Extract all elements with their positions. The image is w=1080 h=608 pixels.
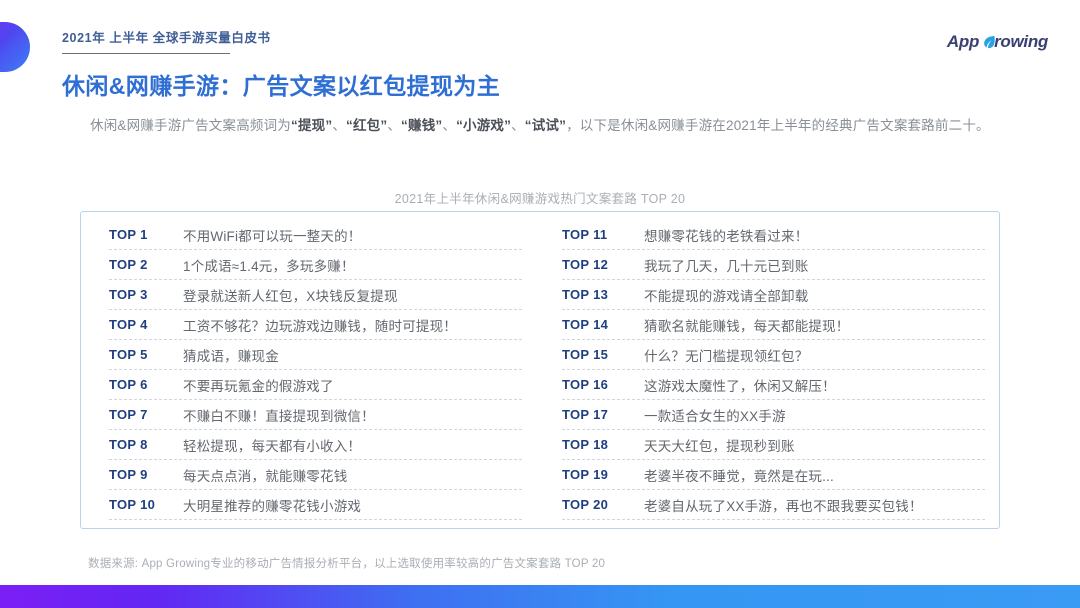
intro-keyword-3: “赚钱” xyxy=(401,118,442,133)
table-row[interactable]: TOP 6不要再玩氪金的假游戏了 xyxy=(109,370,522,400)
table-row[interactable]: TOP 12我玩了几天，几十元已到账 xyxy=(562,250,985,280)
table-row[interactable]: TOP 15什么？无门槛提现领红包？ xyxy=(562,340,985,370)
intro-keyword-4: “小游戏” xyxy=(456,118,511,133)
rank-label: TOP 16 xyxy=(562,377,644,392)
rank-label: TOP 17 xyxy=(562,407,644,422)
ranking-column-left: TOP 1不用WiFi都可以玩一整天的！TOP 21个成语≈1.4元，多玩多赚！… xyxy=(81,220,540,520)
rank-label: TOP 8 xyxy=(109,437,183,452)
table-row[interactable]: TOP 8轻松提现，每天都有小收入！ xyxy=(109,430,522,460)
rank-label: TOP 14 xyxy=(562,317,644,332)
intro-part-1: 休闲&网赚手游广告文案高频词为 xyxy=(90,118,291,133)
intro-sep-1: 、 xyxy=(332,118,346,133)
intro-paragraph: 休闲&网赚手游广告文案高频词为“提现”、“红包”、“赚钱”、“小游戏”、“试试”… xyxy=(90,112,1000,140)
rank-copy-text: 什么？无门槛提现领红包？ xyxy=(644,345,808,365)
rank-copy-text: 这游戏太魔性了，休闲又解压！ xyxy=(644,375,836,395)
rank-label: TOP 6 xyxy=(109,377,183,392)
decorative-corner-blob xyxy=(0,22,30,72)
rank-copy-text: 登录就送新人红包，X块钱反复提现 xyxy=(183,285,398,305)
rank-copy-text: 老婆半夜不睡觉，竟然是在玩... xyxy=(644,465,834,485)
intro-sep-3: 、 xyxy=(442,118,456,133)
leaf-icon xyxy=(983,35,996,50)
rank-label: TOP 20 xyxy=(562,497,644,512)
rank-copy-text: 不能提现的游戏请全部卸载 xyxy=(644,285,808,305)
rank-label: TOP 1 xyxy=(109,227,183,242)
table-row[interactable]: TOP 3登录就送新人红包，X块钱反复提现 xyxy=(109,280,522,310)
table-caption: 2021年上半年休闲&网赚游戏热门文案套路 TOP 20 xyxy=(0,188,1080,207)
rank-label: TOP 7 xyxy=(109,407,183,422)
rank-copy-text: 大明星推荐的赚零花钱小游戏 xyxy=(183,495,361,515)
table-row[interactable]: TOP 9每天点点消，就能赚零花钱 xyxy=(109,460,522,490)
intro-keyword-1: “提现” xyxy=(291,118,332,133)
rank-label: TOP 15 xyxy=(562,347,644,362)
table-row[interactable]: TOP 20老婆自从玩了XX手游，再也不跟我要买包钱！ xyxy=(562,490,985,520)
table-row[interactable]: TOP 10大明星推荐的赚零花钱小游戏 xyxy=(109,490,522,520)
logo-text-app: App xyxy=(947,32,979,52)
rank-copy-text: 我玩了几天，几十元已到账 xyxy=(644,255,808,275)
rank-copy-text: 不赚白不赚！直接提现到微信！ xyxy=(183,405,375,425)
table-row[interactable]: TOP 4工资不够花？边玩游戏边赚钱，随时可提现！ xyxy=(109,310,522,340)
rank-label: TOP 9 xyxy=(109,467,183,482)
rank-copy-text: 想赚零花钱的老铁看过来！ xyxy=(644,225,808,245)
rank-label: TOP 11 xyxy=(562,227,644,242)
table-row[interactable]: TOP 19老婆半夜不睡觉，竟然是在玩... xyxy=(562,460,985,490)
intro-sep-4: 、 xyxy=(511,118,525,133)
rank-label: TOP 2 xyxy=(109,257,183,272)
rank-label: TOP 12 xyxy=(562,257,644,272)
rank-copy-text: 轻松提现，每天都有小收入！ xyxy=(183,435,361,455)
rank-label: TOP 5 xyxy=(109,347,183,362)
slide-header: 2021年 上半年 全球手游买量白皮书 休闲&网赚手游：广告文案以红包提现为主 xyxy=(62,27,622,101)
logo-text-growing: rowing xyxy=(994,32,1048,52)
rank-label: TOP 19 xyxy=(562,467,644,482)
data-source-footnote: 数据来源: App Growing专业的移动广告情报分析平台，以上选取使用率较高… xyxy=(88,555,605,571)
rank-copy-text: 不要再玩氪金的假游戏了 xyxy=(183,375,334,395)
table-row[interactable]: TOP 7不赚白不赚！直接提现到微信！ xyxy=(109,400,522,430)
bottom-gradient-bar xyxy=(0,585,1080,608)
table-row[interactable]: TOP 16这游戏太魔性了，休闲又解压！ xyxy=(562,370,985,400)
rank-label: TOP 4 xyxy=(109,317,183,332)
rank-copy-text: 一款适合女生的XX手游 xyxy=(644,405,786,425)
table-row[interactable]: TOP 17一款适合女生的XX手游 xyxy=(562,400,985,430)
ranking-card: TOP 1不用WiFi都可以玩一整天的！TOP 21个成语≈1.4元，多玩多赚！… xyxy=(80,211,1000,529)
page-title: 休闲&网赚手游：广告文案以红包提现为主 xyxy=(62,67,622,101)
table-row[interactable]: TOP 14猜歌名就能赚钱，每天都能提现！ xyxy=(562,310,985,340)
rank-label: TOP 13 xyxy=(562,287,644,302)
intro-sep-2: 、 xyxy=(387,118,401,133)
rank-copy-text: 1个成语≈1.4元，多玩多赚！ xyxy=(183,255,355,275)
intro-keyword-2: “红包” xyxy=(346,118,387,133)
rank-copy-text: 老婆自从玩了XX手游，再也不跟我要买包钱！ xyxy=(644,495,923,515)
table-row[interactable]: TOP 1不用WiFi都可以玩一整天的！ xyxy=(109,220,522,250)
table-row[interactable]: TOP 11想赚零花钱的老铁看过来！ xyxy=(562,220,985,250)
rank-copy-text: 猜成语，赚现金 xyxy=(183,345,279,365)
rank-label: TOP 3 xyxy=(109,287,183,302)
table-row[interactable]: TOP 13不能提现的游戏请全部卸载 xyxy=(562,280,985,310)
header-divider xyxy=(62,53,230,54)
rank-copy-text: 工资不够花？边玩游戏边赚钱，随时可提现！ xyxy=(183,315,457,335)
intro-keyword-5: “试试” xyxy=(525,118,566,133)
app-growing-logo: App rowing xyxy=(947,32,1048,52)
rank-copy-text: 不用WiFi都可以玩一整天的！ xyxy=(183,225,362,245)
rank-label: TOP 10 xyxy=(109,497,183,512)
rank-copy-text: 每天点点消，就能赚零花钱 xyxy=(183,465,347,485)
table-row[interactable]: TOP 21个成语≈1.4元，多玩多赚！ xyxy=(109,250,522,280)
table-row[interactable]: TOP 18天天大红包，提现秒到账 xyxy=(562,430,985,460)
ranking-column-right: TOP 11想赚零花钱的老铁看过来！TOP 12我玩了几天，几十元已到账TOP … xyxy=(540,220,999,520)
report-kicker: 2021年 上半年 全球手游买量白皮书 xyxy=(62,27,622,46)
table-row[interactable]: TOP 5猜成语，赚现金 xyxy=(109,340,522,370)
rank-label: TOP 18 xyxy=(562,437,644,452)
rank-copy-text: 天天大红包，提现秒到账 xyxy=(644,435,795,455)
intro-part-2: ，以下是休闲&网赚手游在2021年上半年的经典广告文案套路前二十。 xyxy=(566,118,990,133)
rank-copy-text: 猜歌名就能赚钱，每天都能提现！ xyxy=(644,315,850,335)
